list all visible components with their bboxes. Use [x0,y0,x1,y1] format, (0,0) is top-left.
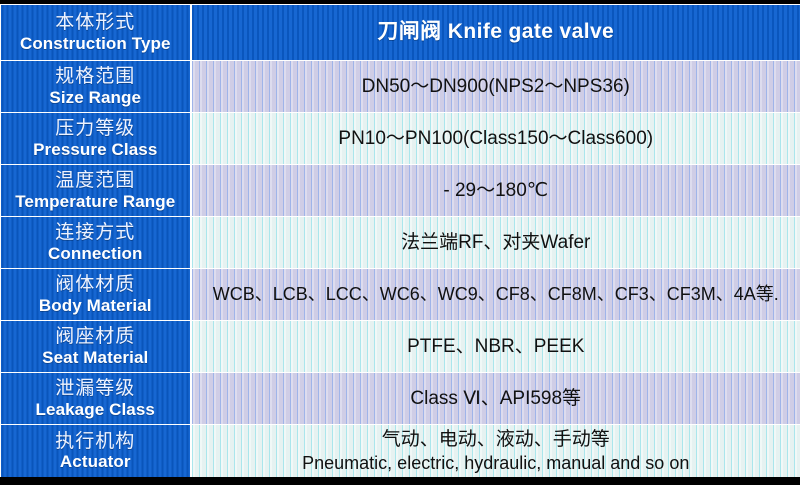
row-label-actuator: 执行机构 Actuator [1,425,191,478]
table-row: 压力等级 Pressure Class PN10～PN100(Class150～… [1,113,800,165]
label-english: Connection [1,244,190,263]
label-chinese: 温度范围 [1,170,190,191]
row-value-leakage-class: Class Ⅵ、API598等 [191,373,800,425]
row-label-construction-type: 本体形式 Construction Type [1,5,191,61]
value-text: PTFE、NBR、PEEK [192,335,800,359]
label-english: Temperature Range [1,192,190,211]
bottom-border-rule [0,477,800,485]
row-value-temperature-range: - 29～180℃ [191,165,800,217]
label-chinese: 规格范围 [1,66,190,87]
value-text-chinese: 气动、电动、液动、手动等 [192,428,800,452]
valve-specification-table: 本体形式 Construction Type 刀闸阀 Knife gate va… [0,4,800,478]
label-chinese: 阀体材质 [1,274,190,295]
row-value-size-range: DN50～DN900(NPS2～NPS36) [191,61,800,113]
label-chinese: 执行机构 [1,431,190,452]
row-label-temperature-range: 温度范围 Temperature Range [1,165,191,217]
label-english: Seat Material [1,348,190,367]
label-english: Size Range [1,88,190,107]
row-value-actuator: 气动、电动、液动、手动等 Pneumatic, electric, hydrau… [191,425,800,478]
value-text: Class Ⅵ、API598等 [192,387,800,411]
table-row: 阀座材质 Seat Material PTFE、NBR、PEEK [1,321,800,373]
label-chinese: 连接方式 [1,222,190,243]
value-text: PN10～PN100(Class150～Class600) [192,127,800,151]
row-value-construction-type: 刀闸阀 Knife gate valve [191,5,800,61]
table-row: 执行机构 Actuator 气动、电动、液动、手动等 Pneumatic, el… [1,425,800,478]
table-row: 阀体材质 Body Material WCB、LCB、LCC、WC6、WC9、C… [1,269,800,321]
label-chinese: 阀座材质 [1,326,190,347]
row-value-seat-material: PTFE、NBR、PEEK [191,321,800,373]
row-label-leakage-class: 泄漏等级 Leakage Class [1,373,191,425]
label-chinese: 泄漏等级 [1,378,190,399]
label-chinese: 压力等级 [1,118,190,139]
row-label-pressure-class: 压力等级 Pressure Class [1,113,191,165]
row-label-connection: 连接方式 Connection [1,217,191,269]
label-english: Construction Type [1,34,190,53]
row-value-pressure-class: PN10～PN100(Class150～Class600) [191,113,800,165]
value-text-english: Pneumatic, electric, hydraulic, manual a… [192,452,800,475]
row-label-size-range: 规格范围 Size Range [1,61,191,113]
value-text: 法兰端RF、对夹Wafer [192,231,800,255]
value-text: WCB、LCB、LCC、WC6、WC9、CF8、CF8M、CF3、CF3M、4A… [192,283,800,306]
value-text: - 29～180℃ [192,179,800,203]
row-label-seat-material: 阀座材质 Seat Material [1,321,191,373]
table-body: 本体形式 Construction Type 刀闸阀 Knife gate va… [1,5,800,478]
value-text: DN50～DN900(NPS2～NPS36) [192,75,800,99]
table-row: 泄漏等级 Leakage Class Class Ⅵ、API598等 [1,373,800,425]
label-english: Pressure Class [1,140,190,159]
row-value-connection: 法兰端RF、对夹Wafer [191,217,800,269]
table-row: 温度范围 Temperature Range - 29～180℃ [1,165,800,217]
label-chinese: 本体形式 [1,12,190,33]
label-english: Actuator [1,452,190,471]
label-english: Body Material [1,296,190,315]
row-label-body-material: 阀体材质 Body Material [1,269,191,321]
label-english: Leakage Class [1,400,190,419]
table-row: 本体形式 Construction Type 刀闸阀 Knife gate va… [1,5,800,61]
value-text: 刀闸阀 Knife gate valve [377,20,614,43]
table-row: 连接方式 Connection 法兰端RF、对夹Wafer [1,217,800,269]
table-row: 规格范围 Size Range DN50～DN900(NPS2～NPS36) [1,61,800,113]
row-value-body-material: WCB、LCB、LCC、WC6、WC9、CF8、CF8M、CF3、CF3M、4A… [191,269,800,321]
